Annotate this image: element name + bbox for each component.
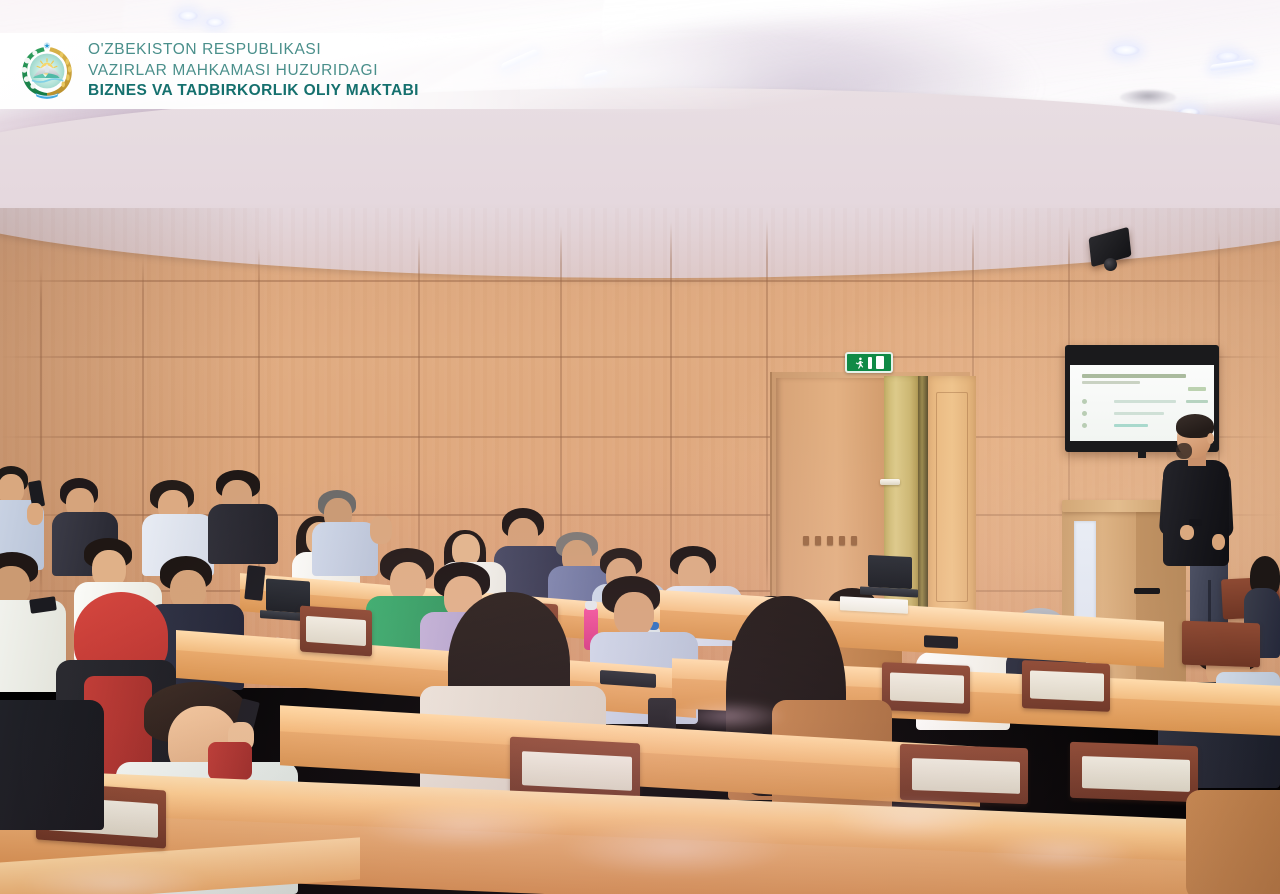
mobile-phone [244,565,265,601]
running-man-icon [855,357,864,369]
door-panel-inset [936,392,968,602]
institution-banner: O'ZBEKISTON RESPUBLIKASI VAZIRLAR MAHKAM… [0,33,760,109]
chair-seat-pad [1082,756,1190,792]
door-handle[interactable] [880,479,900,485]
recessed-downlight [1112,45,1140,56]
presenter-left-hand [1180,525,1194,540]
door-gap [918,376,928,620]
mobile-phone [924,635,958,649]
slide-row [1114,412,1164,415]
child-red-sleeve [208,742,252,780]
presenter-right-hand [1212,534,1225,550]
slide-bullet-icon [1082,399,1087,404]
exit-door-glyph [876,356,884,369]
slide-bullet-icon [1082,423,1087,428]
banner-line-2: VAZIRLAR MAHKAMASI HUZURIDAGI [88,61,419,82]
chair-seat-pad [1030,670,1104,701]
laptop [868,555,912,589]
chairback [1182,621,1260,668]
bottle-cap [585,601,597,610]
chair-seat-pad [912,758,1020,794]
raised-hands [370,516,392,544]
photo-screenshot: O'ZBEKISTON RESPUBLIKASI VAZIRLAR MAHKAM… [0,0,1280,894]
podium-microphone [1134,588,1160,594]
presenter-torso [1163,460,1229,566]
speaker-box-lens [1104,258,1117,271]
banner-text-block: O'ZBEKISTON RESPUBLIKASI VAZIRLAR MAHKAM… [88,40,419,102]
slide-title-line [1082,374,1186,378]
raised-hand [27,503,43,525]
slide-row [1186,400,1208,403]
presenter-ear [1207,433,1214,444]
slide-row [1114,400,1176,403]
chair-seat-pad [522,751,632,791]
display-mount [1138,452,1146,458]
presenter-wristwatch [1189,519,1202,526]
recessed-downlight [178,11,198,21]
chair-seat-pad [890,672,964,703]
chair-seat-pad [306,616,366,646]
banner-line-3: BIZNES VA TADBIRKORLIK OLIY MAKTABI [88,81,419,102]
wall-hook-row [803,536,857,545]
slide-badge [1188,387,1206,391]
presenter-beard [1176,443,1192,459]
banner-line-1: O'ZBEKISTON RESPUBLIKASI [88,40,419,61]
slide-row [1114,424,1148,427]
slide-bullet-icon [1082,411,1087,416]
recessed-downlight [206,18,224,27]
slide-subtitle-line [1082,381,1140,384]
uzbekistan-state-emblem [18,42,76,100]
ceiling-fixture-ring [1120,90,1176,105]
exit-arrow-bar [868,357,872,369]
emergency-exit-sign [845,352,893,373]
